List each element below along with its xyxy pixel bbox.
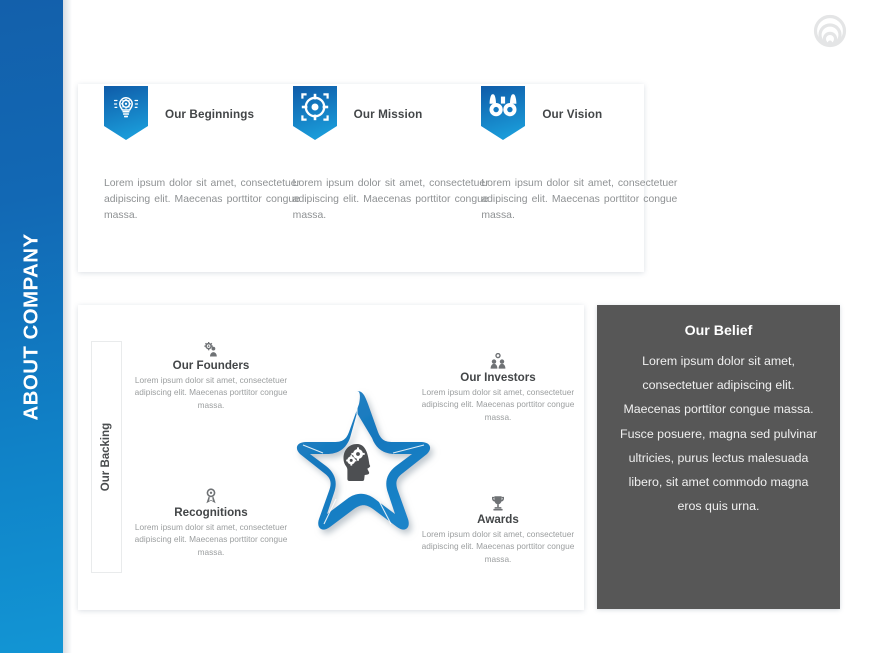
top-column-mission: Our Mission Lorem ipsum dolor sit amet, … (267, 84, 456, 272)
card-title-mission: Our Mission (354, 108, 423, 121)
head-gears-thinking-icon (338, 441, 376, 485)
page-title: ABOUT COMPANY (0, 0, 63, 653)
belief-panel: Our Belief Lorem ipsum dolor sit amet, c… (597, 305, 840, 609)
backing-body-founders: Lorem ipsum dolor sit amet, consectetuer… (125, 374, 297, 411)
badge-row-vision: Our Vision (455, 84, 644, 144)
backing-item-recognitions: Recognitions Lorem ipsum dolor sit amet,… (125, 488, 297, 558)
award-medal-icon (125, 488, 297, 504)
top-column-vision: Our Vision Lorem ipsum dolor sit amet, c… (455, 84, 644, 272)
card-title-beginnings: Our Beginnings (165, 108, 254, 121)
gear-person-icon (125, 341, 297, 357)
backing-item-investors: Our Investors Lorem ipsum dolor sit amet… (412, 353, 584, 423)
backing-title-founders: Our Founders (125, 359, 297, 372)
backing-title-investors: Our Investors (412, 371, 584, 384)
top-column-beginnings: Our Beginnings Lorem ipsum dolor sit ame… (78, 84, 267, 272)
trophy-icon (412, 495, 584, 511)
backing-item-awards: Awards Lorem ipsum dolor sit amet, conse… (412, 495, 584, 565)
backing-tab: Our Backing (91, 341, 122, 573)
backing-tab-label: Our Backing (101, 423, 113, 491)
sidebar-shadow (63, 0, 72, 653)
badge-row-beginnings: Our Beginnings (78, 84, 267, 144)
badge-row-mission: Our Mission (267, 84, 456, 144)
backing-card: Our Backing (78, 305, 584, 610)
belief-title: Our Belief (619, 323, 818, 339)
backing-item-founders: Our Founders Lorem ipsum dolor sit amet,… (125, 341, 297, 411)
five-point-star-graphic (281, 387, 433, 543)
card-body-vision: Lorem ipsum dolor sit amet, consectetuer… (481, 176, 677, 224)
belief-body: Lorem ipsum dolor sit amet, consectetuer… (619, 349, 818, 518)
backing-title-recognitions: Recognitions (125, 506, 297, 519)
concentric-circles-logo-icon (810, 12, 850, 52)
page-title-text: ABOUT COMPANY (20, 233, 44, 420)
card-title-vision: Our Vision (542, 108, 602, 121)
backing-body-investors: Lorem ipsum dolor sit amet, consectetuer… (412, 386, 584, 423)
backing-body-awards: Lorem ipsum dolor sit amet, consectetuer… (412, 528, 584, 565)
binoculars-icon (481, 86, 525, 140)
people-group-icon (412, 353, 584, 369)
lightbulb-gear-icon (104, 86, 148, 140)
backing-title-awards: Awards (412, 513, 584, 526)
target-icon (293, 86, 337, 140)
top-info-card: Our Beginnings Lorem ipsum dolor sit ame… (78, 84, 644, 272)
backing-body-recognitions: Lorem ipsum dolor sit amet, consectetuer… (125, 521, 297, 558)
